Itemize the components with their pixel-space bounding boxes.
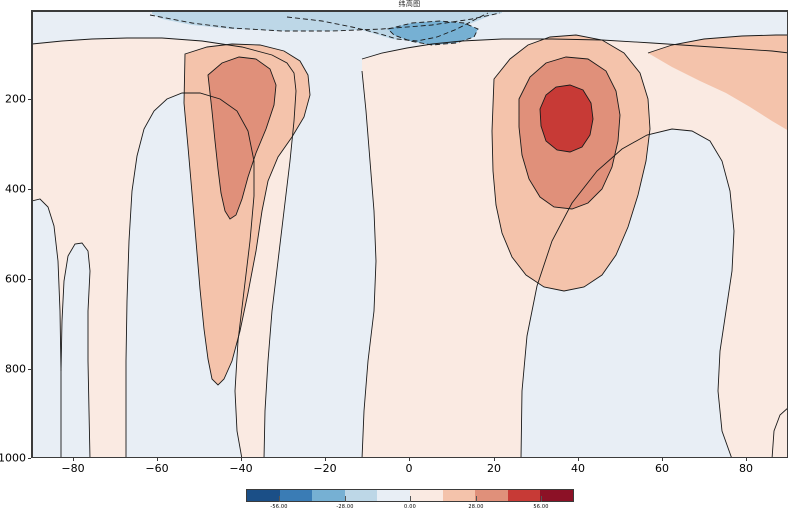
colorbar-label-2: 0.00 xyxy=(404,504,416,510)
colorbar-swatch-1 xyxy=(280,490,313,501)
contour-field xyxy=(32,11,788,458)
xtick-mark xyxy=(157,458,158,461)
colorbar-label-1: -28.00 xyxy=(336,504,353,510)
ytick-label-800: 800 xyxy=(0,363,26,376)
xtick-label-m80: −80 xyxy=(61,462,84,475)
colorbar-tick xyxy=(476,496,477,502)
figure-canvas: 纬高图 xyxy=(0,0,800,520)
ytick-label-600: 600 xyxy=(0,273,26,286)
xtick-mark xyxy=(325,458,326,461)
ytick-mark xyxy=(28,279,31,280)
ytick-mark xyxy=(28,189,31,190)
xtick-label-0: 0 xyxy=(406,462,413,475)
xtick-label-m60: −60 xyxy=(145,462,168,475)
colorbar-tick xyxy=(541,496,542,502)
colorbar-swatch-6 xyxy=(443,490,476,501)
xtick-mark xyxy=(494,458,495,461)
ytick-mark xyxy=(28,99,31,100)
xtick-label-m20: −20 xyxy=(313,462,336,475)
colorbar-swatch-4 xyxy=(377,490,410,501)
colorbar-swatch-5 xyxy=(410,490,443,501)
xtick-label-60: 60 xyxy=(655,462,669,475)
colorbar-label-4: 56.00 xyxy=(533,504,548,510)
colorbar-swatch-3 xyxy=(345,490,378,501)
xtick-mark xyxy=(578,458,579,461)
colorbar-tick xyxy=(279,496,280,502)
ytick-mark xyxy=(28,458,31,459)
xtick-mark xyxy=(241,458,242,461)
colorbar-label-0: -56.00 xyxy=(270,504,287,510)
xtick-label-80: 80 xyxy=(739,462,753,475)
colorbar-swatch-7 xyxy=(475,490,508,501)
colorbar-swatch-8 xyxy=(508,490,541,501)
chart-title: 纬高图 xyxy=(31,0,788,9)
xtick-mark xyxy=(746,458,747,461)
ytick-mark xyxy=(28,369,31,370)
xtick-label-40: 40 xyxy=(571,462,585,475)
ytick-label-400: 400 xyxy=(0,183,26,196)
ytick-label-200: 200 xyxy=(0,93,26,106)
colorbar-swatch-2 xyxy=(312,490,345,501)
colorbar-swatch-9 xyxy=(540,490,573,501)
colorbar-tick xyxy=(410,496,411,502)
colorbar-tick xyxy=(345,496,346,502)
xtick-mark xyxy=(73,458,74,461)
ytick-label-1000: 1000 xyxy=(0,452,26,465)
plot-area xyxy=(31,10,788,458)
xtick-mark xyxy=(662,458,663,461)
xtick-mark xyxy=(409,458,410,461)
colorbar-swatch-0 xyxy=(247,490,280,501)
xtick-label-20: 20 xyxy=(487,462,501,475)
xtick-label-m40: −40 xyxy=(229,462,252,475)
colorbar-label-3: 28.00 xyxy=(468,504,483,510)
